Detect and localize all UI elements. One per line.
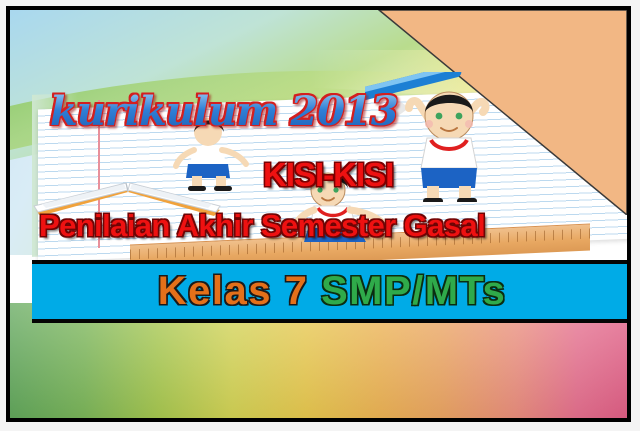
poster-frame: kurikulum 2013 KISI-KISI Penilaian Akhir…: [6, 6, 631, 422]
kurikulum-title: kurikulum 2013: [50, 92, 398, 132]
poster-stage: kurikulum 2013 KISI-KISI Penilaian Akhir…: [10, 10, 627, 418]
school-label: SMP/MTs: [321, 269, 506, 313]
exam-heading: Penilaian Akhir Semester Gasal: [39, 210, 485, 241]
kisi-heading: KISI-KISI: [263, 158, 393, 191]
grade-banner-text: Kelas 7 SMP/MTs: [158, 269, 507, 314]
poster-image: kurikulum 2013 KISI-KISI Penilaian Akhir…: [0, 0, 640, 431]
grade-label: Kelas 7: [158, 269, 321, 313]
grade-banner: Kelas 7 SMP/MTs: [32, 260, 627, 323]
